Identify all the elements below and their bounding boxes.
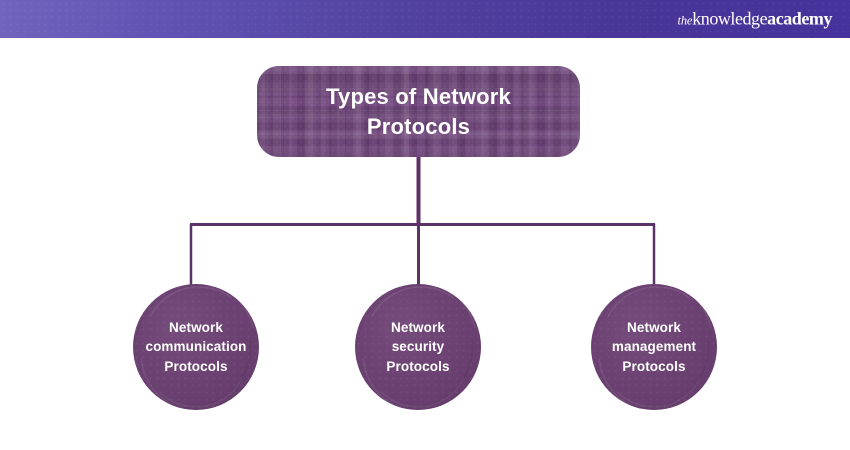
leaf-node-label-line-1: Network [627, 320, 681, 335]
leaf-node-label-line-3: Protocols [164, 359, 227, 374]
brand-logo-prefix: the [678, 14, 693, 28]
leaf-node-label: Network management Protocols [608, 318, 700, 375]
leaf-node-label-line-3: Protocols [386, 359, 449, 374]
leaf-node-label: Network communication Protocols [141, 318, 250, 375]
brand-logo-suffix: academy [767, 9, 832, 29]
header-bar: theknowledgeacademy [0, 0, 850, 38]
leaf-node-network-communication-protocols[interactable]: Network communication Protocols [133, 284, 259, 410]
leaf-node-label-line-1: Network [391, 320, 445, 335]
root-node-title: Types of Network Protocols [257, 82, 580, 141]
diagram-canvas: Types of Network Protocols Network commu… [0, 38, 850, 450]
root-node[interactable]: Types of Network Protocols [257, 66, 580, 157]
leaf-node-label-line-1: Network [169, 320, 223, 335]
leaf-node-label-line-3: Protocols [622, 359, 685, 374]
brand-logo-middle: knowledge [692, 9, 767, 29]
leaf-node-label-line-2: security [392, 339, 445, 354]
leaf-node-label-line-2: management [612, 339, 696, 354]
leaf-node-network-security-protocols[interactable]: Network security Protocols [355, 284, 481, 410]
leaf-node-label: Network security Protocols [382, 318, 453, 375]
leaf-node-network-management-protocols[interactable]: Network management Protocols [591, 284, 717, 410]
brand-logo: theknowledgeacademy [678, 10, 832, 29]
leaf-node-label-line-2: communication [145, 339, 246, 354]
